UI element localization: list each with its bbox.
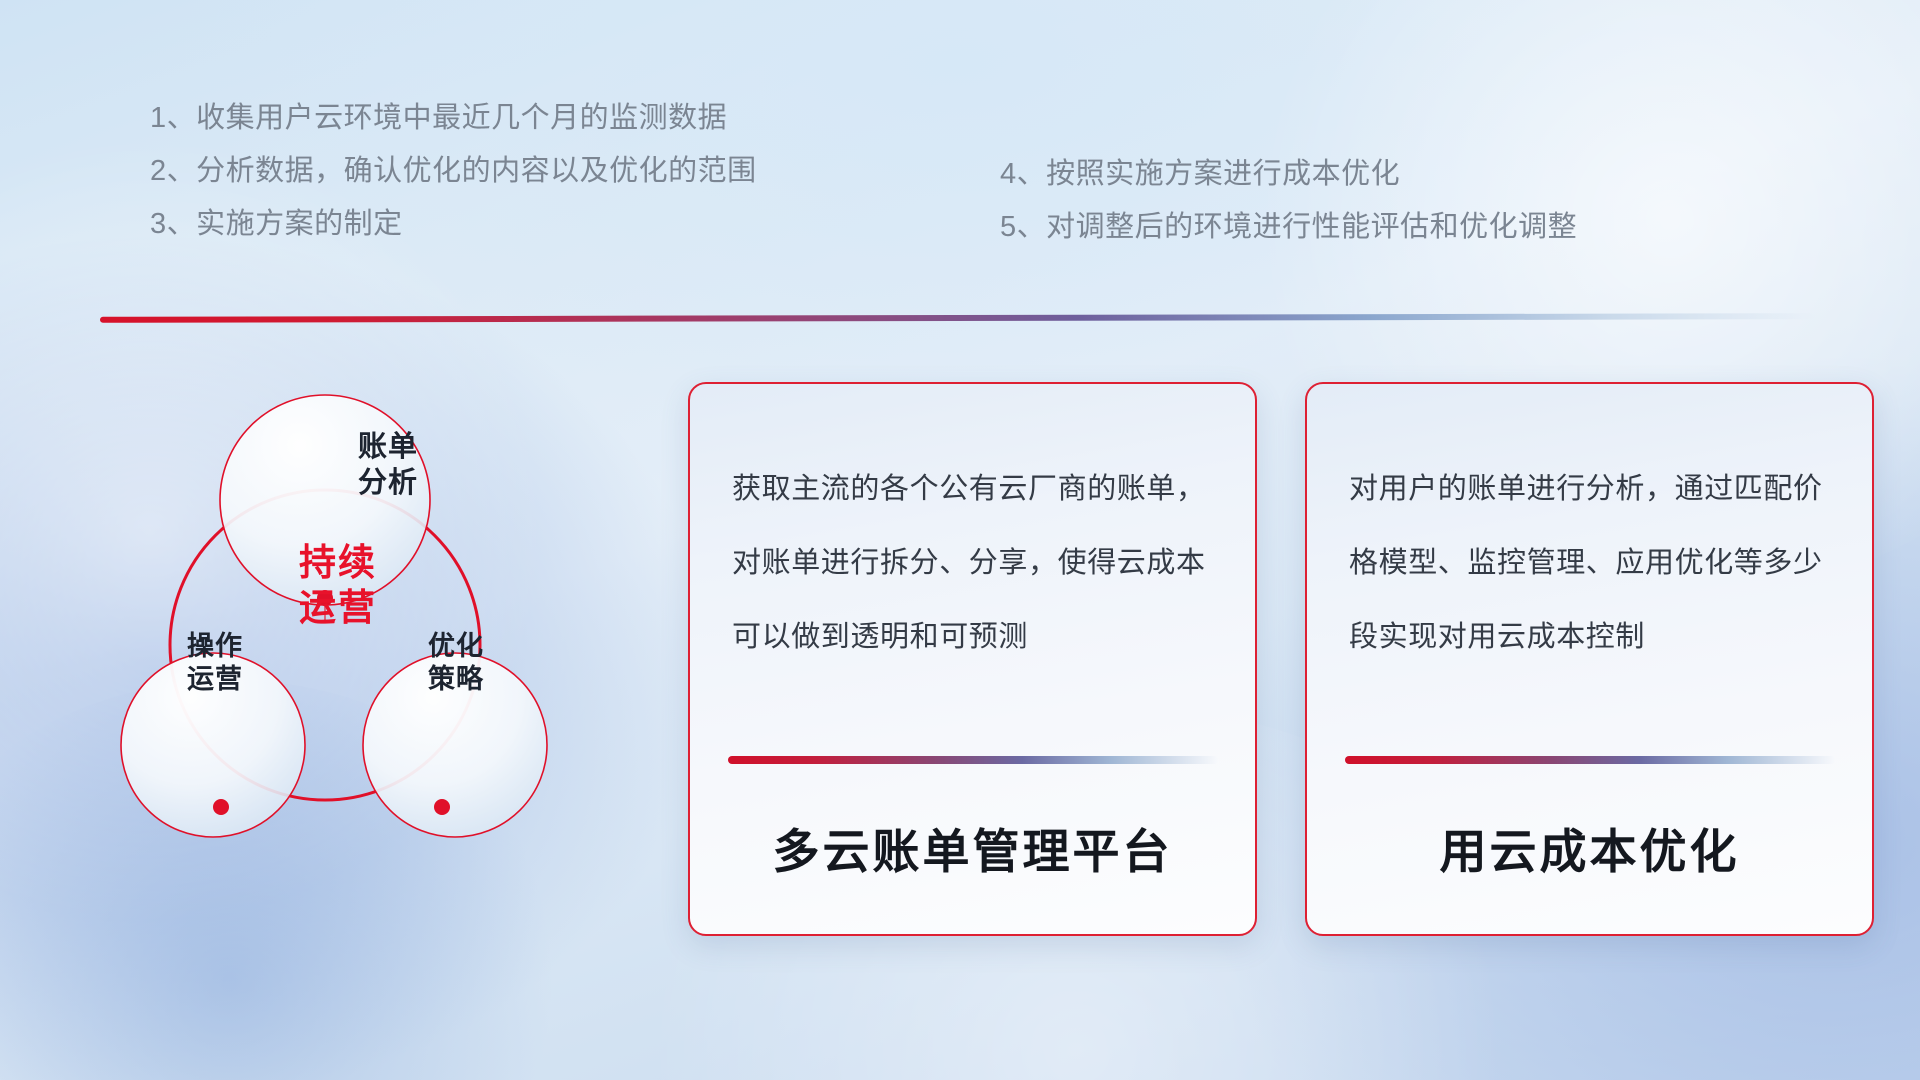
venn-bubble-left[interactable]	[121, 653, 305, 837]
step-item-1: 1、收集用户云环境中最近几个月的监测数据	[150, 92, 850, 145]
feature-card-multi-cloud-bill-platform[interactable]: 获取主流的各个公有云厂商的账单，对账单进行拆分、分享，使得云成本可以做到透明和可…	[688, 382, 1257, 936]
feature-card-cloud-cost-optimization[interactable]: 对用户的账单进行分析，通过匹配价格模型、监控管理、应用优化等多少段实现对用云成本…	[1305, 382, 1874, 936]
venn-bubble-top[interactable]	[220, 395, 430, 605]
venn-node-top	[317, 590, 333, 606]
venn-node-left	[213, 799, 229, 815]
slide-canvas: 1、收集用户云环境中最近几个月的监测数据 2、分析数据，确认优化的内容以及优化的…	[0, 0, 1920, 1080]
step-item-2: 2、分析数据，确认优化的内容以及优化的范围	[150, 145, 850, 198]
card-body-text: 对用户的账单进行分析，通过匹配价格模型、监控管理、应用优化等多少段实现对用云成本…	[1307, 384, 1872, 674]
venn-svg	[95, 355, 555, 915]
step-item-5: 5、对调整后的环境进行性能评估和优化调整	[1000, 201, 1740, 254]
steps-list-right: 4、按照实施方案进行成本优化 5、对调整后的环境进行性能评估和优化调整	[1000, 148, 1740, 254]
card-title: 用云成本优化	[1307, 813, 1872, 882]
venn-bubble-right[interactable]	[363, 653, 547, 837]
venn-diagram: 账单 分析 操作 运营 优化 策略 持续 运营	[95, 355, 555, 915]
card-divider-rule	[728, 756, 1218, 764]
steps-list-left: 1、收集用户云环境中最近几个月的监测数据 2、分析数据，确认优化的内容以及优化的…	[150, 92, 850, 251]
card-body-text: 获取主流的各个公有云厂商的账单，对账单进行拆分、分享，使得云成本可以做到透明和可…	[690, 384, 1255, 674]
venn-node-right	[434, 799, 450, 815]
card-title: 多云账单管理平台	[690, 813, 1255, 882]
step-item-4: 4、按照实施方案进行成本优化	[1000, 148, 1740, 201]
section-divider-rule	[100, 313, 1815, 323]
step-item-3: 3、实施方案的制定	[150, 198, 850, 251]
card-divider-rule	[1345, 756, 1835, 764]
